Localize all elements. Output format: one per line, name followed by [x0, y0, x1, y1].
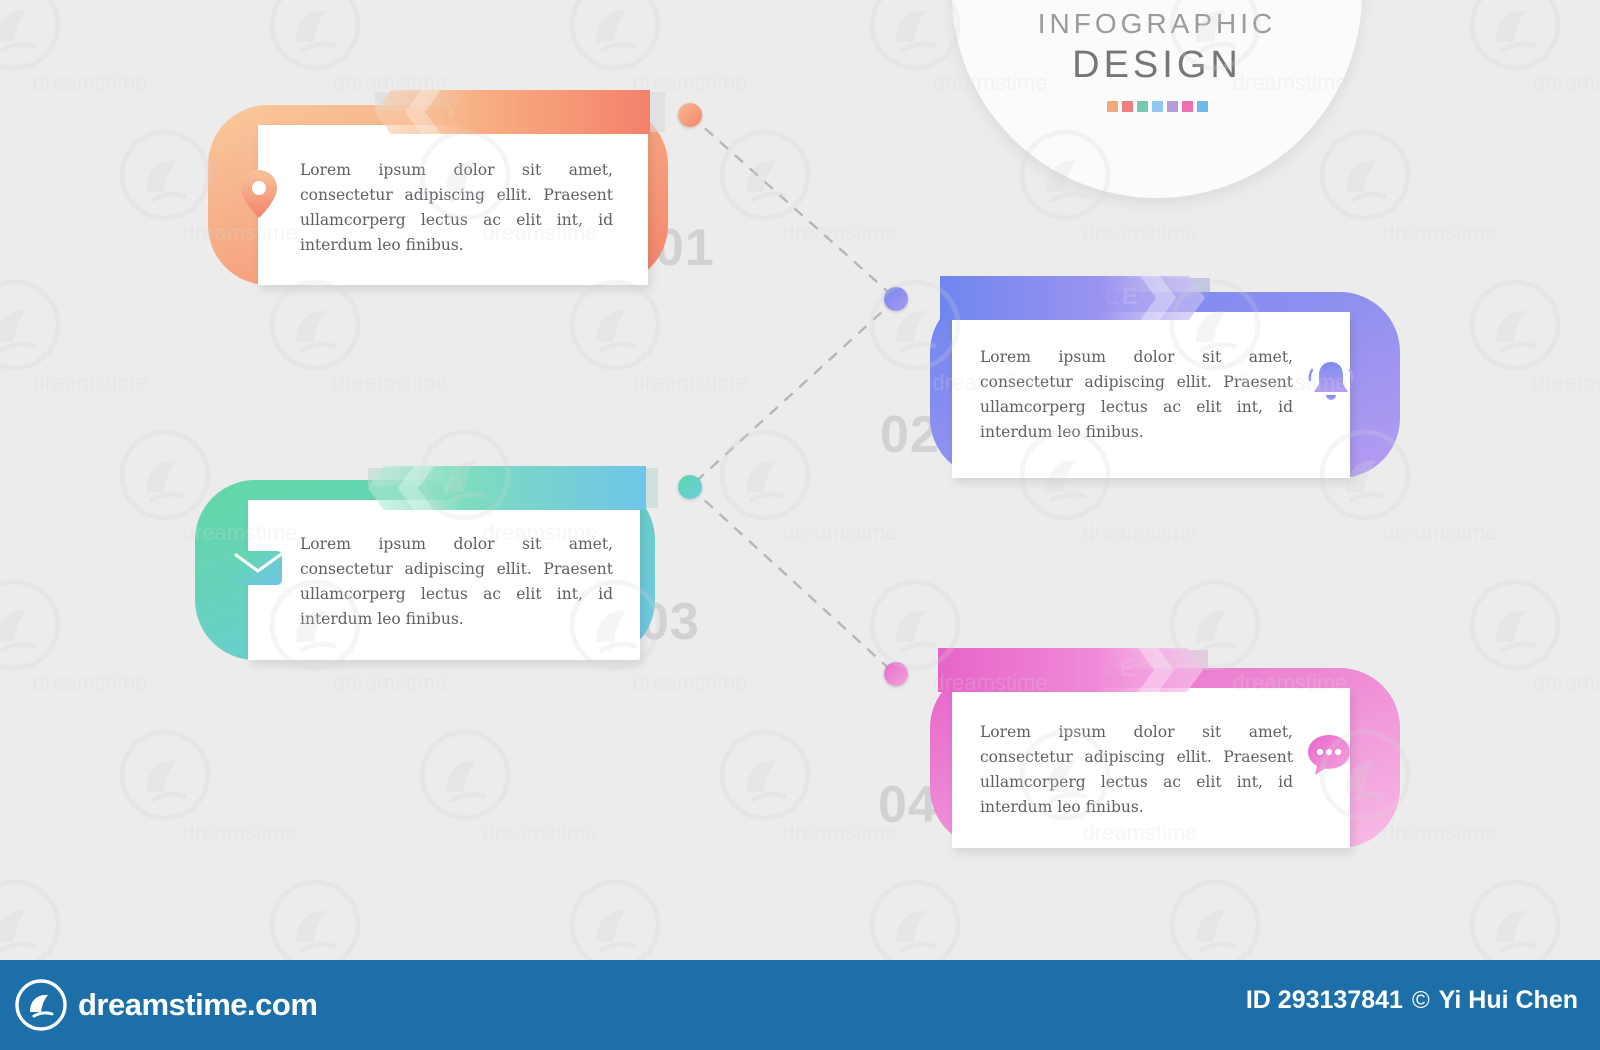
dreamstime-logo-icon [14, 978, 68, 1032]
step-node-dot-04[interactable] [884, 662, 908, 686]
step-node-dot-03[interactable] [678, 475, 702, 499]
bell-icon [1307, 358, 1355, 413]
chat-bubble-icon [1305, 732, 1353, 783]
footer-brand-text: dreamstime.com [78, 987, 317, 1023]
footer-image-id: ID 293137841 [1246, 986, 1403, 1015]
step-title-ribbon-03: YOUR TITLE [368, 466, 646, 508]
logo-dot-2 [1122, 101, 1133, 112]
infographic-canvas: INFOGRAPHIC DESIGN 01 [0, 0, 1600, 960]
step-description-04: Lorem ipsum dolor sit amet, consectetur … [980, 720, 1293, 820]
step-description-03: Lorem ipsum dolor sit amet, consectetur … [300, 532, 613, 632]
step-node-dot-01[interactable] [678, 103, 702, 127]
logo-dot-5 [1167, 101, 1178, 112]
footer-logo[interactable]: dreamstime.com [14, 978, 317, 1032]
step-title-ribbon-04: YOUR TITLE [938, 648, 1203, 690]
step-number-04: 04 [878, 775, 938, 835]
logo-dot-4 [1152, 101, 1163, 112]
logo-dot-7 [1197, 101, 1208, 112]
envelope-icon [232, 548, 284, 593]
location-pin-icon [238, 168, 280, 225]
logo-title-line2: DESIGN [952, 44, 1362, 87]
step-node-dot-02[interactable] [884, 287, 908, 311]
footer-copyright-symbol: © [1412, 987, 1430, 1015]
logo-dot-3 [1137, 101, 1148, 112]
footer-bar: dreamstime.com ID 293137841 © Yi Hui Che… [0, 960, 1600, 1050]
step-description-01: Lorem ipsum dolor sit amet, consectetur … [300, 158, 613, 258]
step-title-ribbon-01: YOUR TITLE [375, 90, 650, 132]
step-title-ribbon-02: YOUR TITLE [940, 276, 1205, 318]
footer-credit: ID 293137841 © Yi Hui Chen [1246, 986, 1578, 1015]
logo-dot-6 [1182, 101, 1193, 112]
footer-author: Yi Hui Chen [1439, 986, 1578, 1015]
logo-dot-1 [1107, 101, 1118, 112]
logo-color-dots [952, 101, 1362, 112]
step-description-02: Lorem ipsum dolor sit amet, consectetur … [980, 345, 1293, 445]
logo-title-line1: INFOGRAPHIC [952, 8, 1362, 40]
